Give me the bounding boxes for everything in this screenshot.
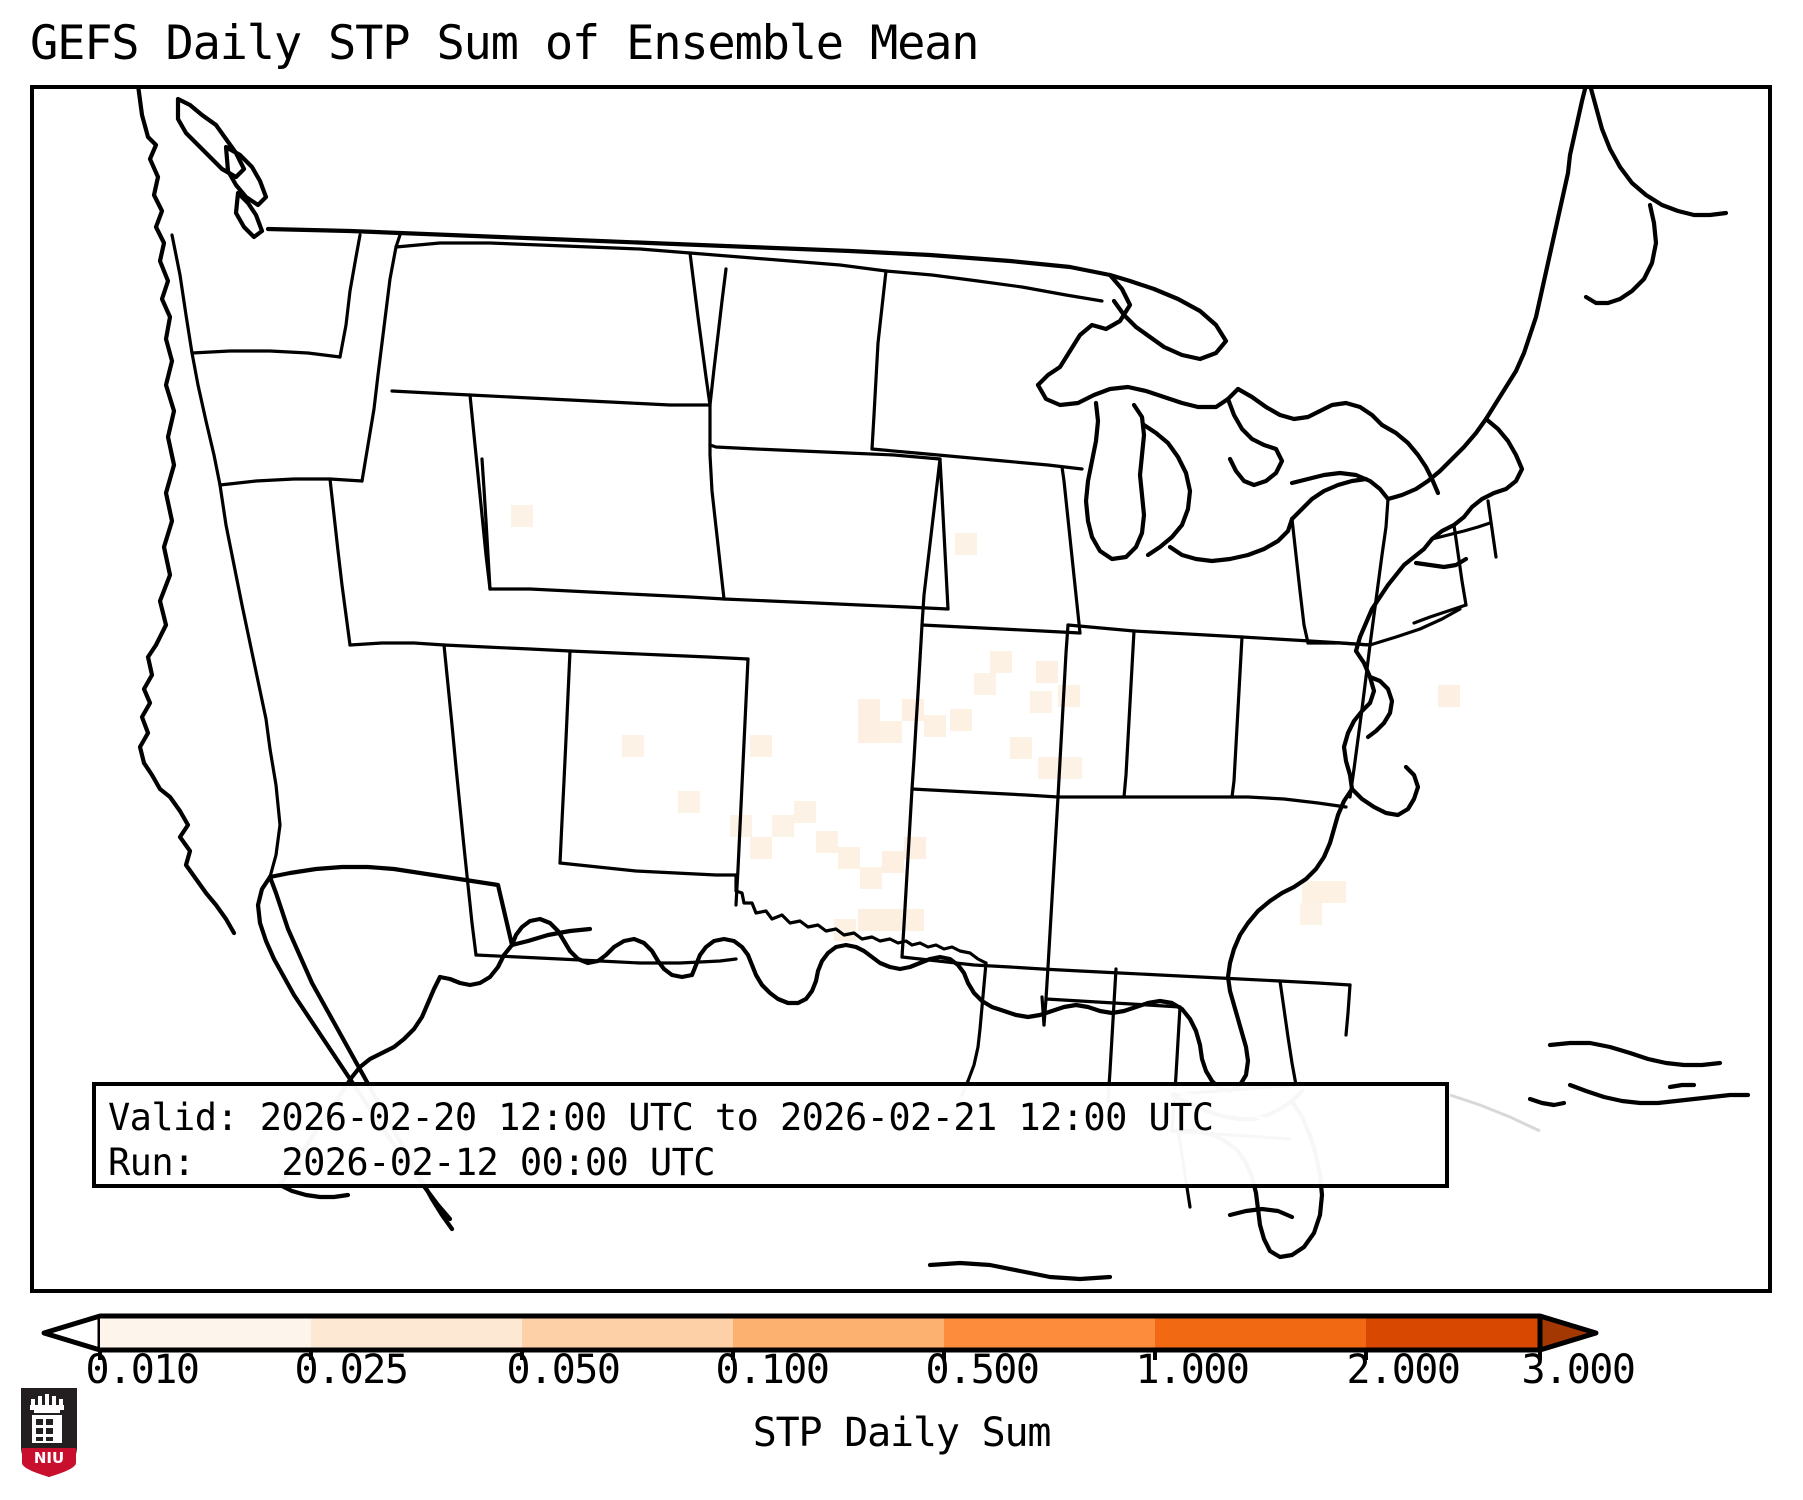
valid-time-line: Valid: 2026-02-20 12:00 UTC to 2026-02-2… [108, 1095, 1433, 1140]
run-time-line: Run: 2026-02-12 00:00 UTC [108, 1140, 1433, 1185]
colorbar-tick-label: 2.000 [1347, 1348, 1460, 1392]
annotation-box: Valid: 2026-02-20 12:00 UTC to 2026-02-2… [92, 1082, 1449, 1188]
colorbar-tick-label: 3.000 [1522, 1348, 1635, 1392]
weather-map-figure: GEFS Daily STP Sum of Ensemble Mean [0, 0, 1803, 1500]
colorbar-tick-label: 0.010 [86, 1348, 199, 1392]
colorbar: 0.010 0.025 0.050 0.100 0.500 1.000 2.00… [0, 1300, 1803, 1500]
colorbar-axis-label: STP Daily Sum [0, 1410, 1803, 1456]
map-panel: Valid: 2026-02-20 12:00 UTC to 2026-02-2… [30, 85, 1772, 1293]
colorbar-tick-label: 0.050 [507, 1348, 620, 1392]
colorbar-tick-label: 1.000 [1136, 1348, 1249, 1392]
niu-logo-text: NIU [34, 1449, 64, 1467]
colorbar-tick-label: 0.100 [716, 1348, 829, 1392]
colorbar-tick-label: 0.025 [295, 1348, 408, 1392]
colorbar-tick-labels: 0.010 0.025 0.050 0.100 0.500 1.000 2.00… [0, 1348, 1803, 1398]
colorbar-under-arrow [44, 1316, 100, 1350]
page-title: GEFS Daily STP Sum of Ensemble Mean [30, 18, 978, 70]
colorbar-tick-label: 0.500 [926, 1348, 1039, 1392]
colorbar-over-arrow [1540, 1316, 1596, 1350]
niu-logo: NIU [18, 1385, 80, 1480]
